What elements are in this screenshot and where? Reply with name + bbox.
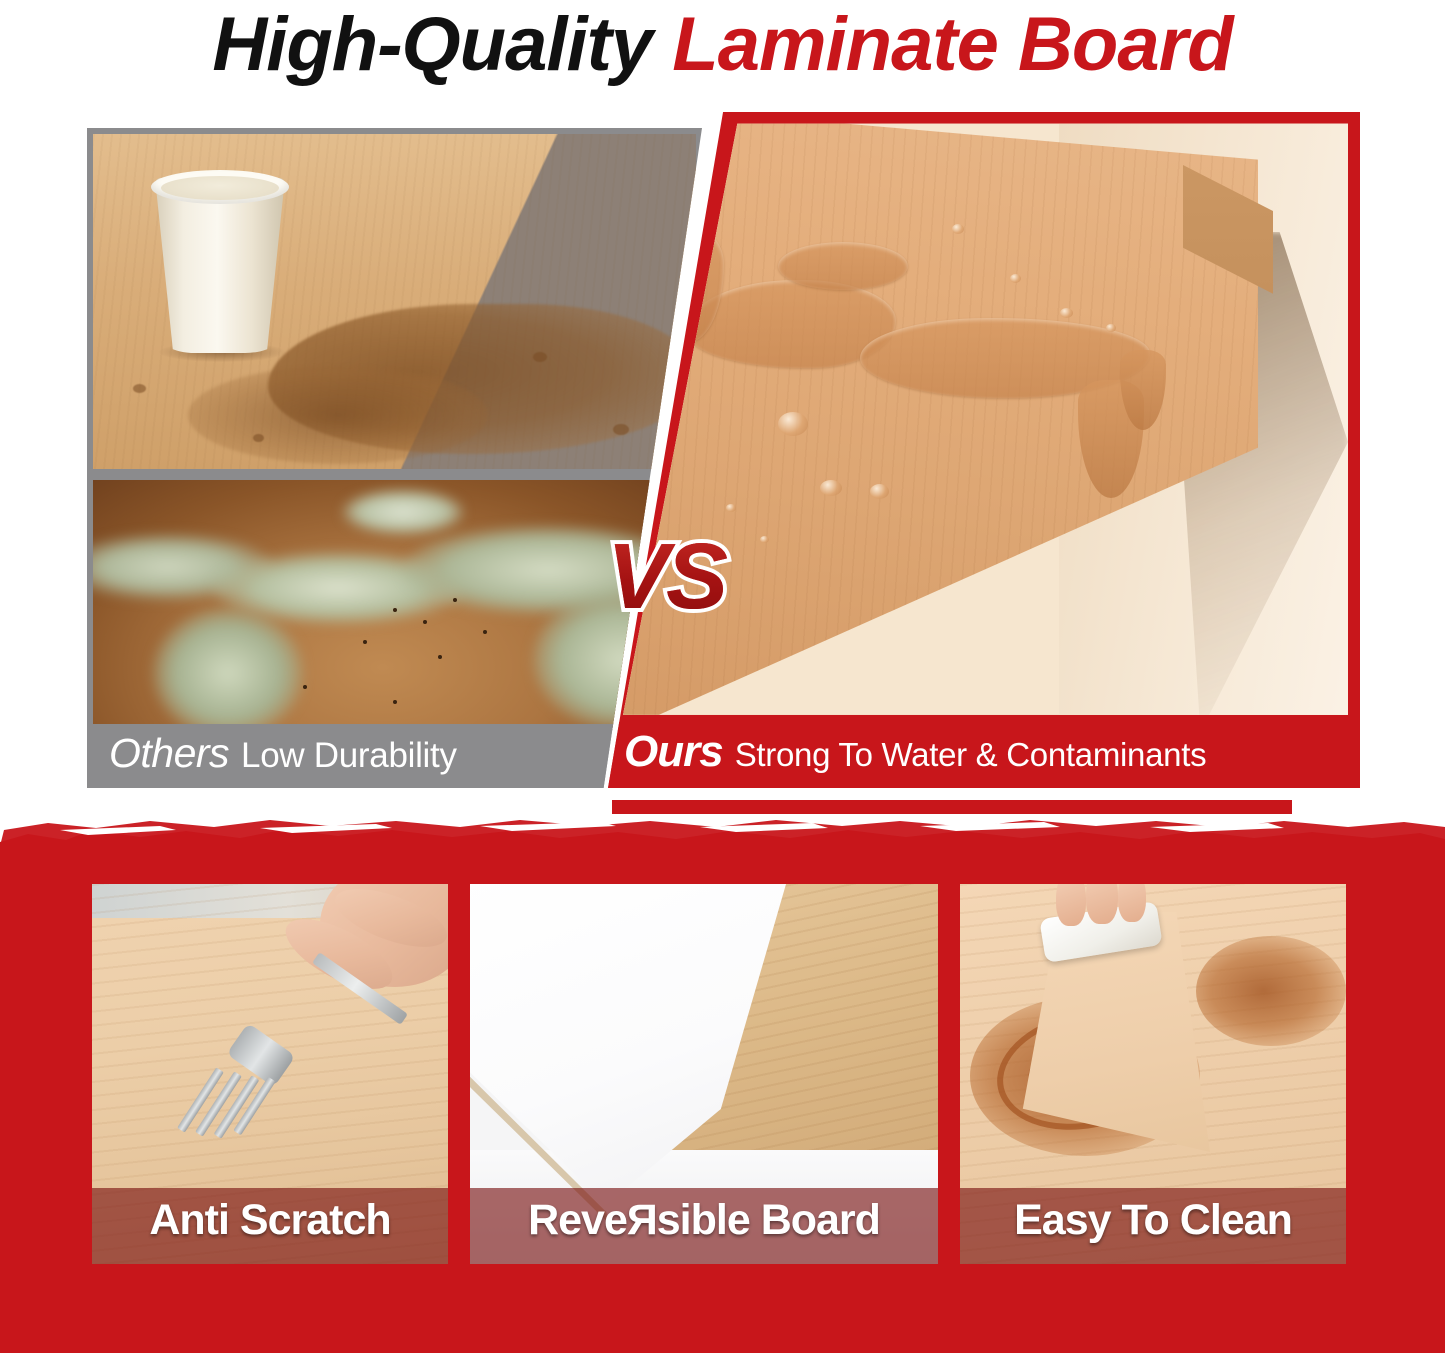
feature-caption-bar-easy-to-clean: Easy To Clean [960, 1188, 1346, 1264]
mould-spore-dot [423, 620, 427, 624]
feature-caption-label: Easy To Clean [960, 1196, 1346, 1245]
finger [1056, 884, 1086, 926]
ours-caption-bar: OursStrong To Water & Contaminants [608, 722, 1360, 788]
comparison-section: OthersLow Durability [0, 108, 1445, 788]
water-bead [820, 480, 842, 496]
water-bead [726, 504, 736, 512]
water-bead [1010, 274, 1021, 283]
title-part-red: Laminate Board [672, 2, 1232, 87]
ours-name-label: Ours [624, 727, 723, 776]
others-panel: OthersLow Durability [87, 128, 702, 788]
feature-caption-bar-anti-scratch: Anti Scratch [92, 1188, 448, 1264]
coffee-spill-stain-secondary [188, 366, 488, 464]
feature-caption-label: ReveЯsible Board [470, 1196, 938, 1245]
mould-spore-dot [483, 630, 487, 634]
water-bead [1060, 308, 1073, 318]
features-section: Anti Scratch ReveЯsible Board [0, 846, 1445, 1353]
water-bead [760, 536, 769, 543]
coffee-droplet [533, 352, 547, 362]
finger [1118, 884, 1146, 922]
ours-panel: OursStrong To Water & Contaminants [608, 112, 1360, 788]
coffee-droplet [253, 434, 264, 442]
finger [1086, 884, 1118, 924]
water-bead [952, 224, 964, 234]
others-description-label: Low Durability [241, 736, 457, 775]
title-part-black: High-Quality [212, 2, 672, 87]
others-photo-coffee-spill [93, 134, 696, 469]
others-name-label: Others [109, 730, 229, 776]
mould-spore-dot [453, 598, 457, 602]
coffee-droplet [613, 424, 629, 435]
paper-cup-body [155, 178, 285, 353]
mould-patch [153, 608, 303, 730]
feature-card-easy-to-clean[interactable]: Easy To Clean [960, 884, 1346, 1264]
ours-description-label: Strong To Water & Contaminants [735, 736, 1207, 773]
feature-caption-bar-reversible-board: ReveЯsible Board [470, 1188, 938, 1264]
water-bead [870, 484, 889, 499]
coffee-droplet [133, 384, 146, 393]
sauce-stain [1196, 936, 1346, 1046]
mould-spore-dot [363, 640, 367, 644]
mould-spore-dot [393, 608, 397, 612]
mould-spore-dot [438, 655, 442, 659]
water-bead [1106, 324, 1116, 332]
water-pool [778, 242, 908, 290]
page-title: High-Quality Laminate Board [0, 2, 1445, 88]
ours-photo-water-resistance [608, 112, 1360, 724]
vs-badge: VS [576, 526, 756, 626]
mould-spore-dot [393, 700, 397, 704]
paint-stroke-divider [0, 800, 1445, 880]
water-bead [778, 412, 808, 436]
mould-patch [343, 490, 463, 534]
paper-cup-interior [161, 176, 279, 200]
mould-spore-dot [303, 685, 307, 689]
feature-caption-label: Anti Scratch [92, 1196, 448, 1245]
feature-card-anti-scratch[interactable]: Anti Scratch [92, 884, 448, 1264]
poster-canvas: High-Quality Laminate Board [0, 0, 1445, 1353]
laminate-board-scene [608, 112, 1360, 724]
feature-card-reversible-board[interactable]: ReveЯsible Board [470, 884, 938, 1264]
